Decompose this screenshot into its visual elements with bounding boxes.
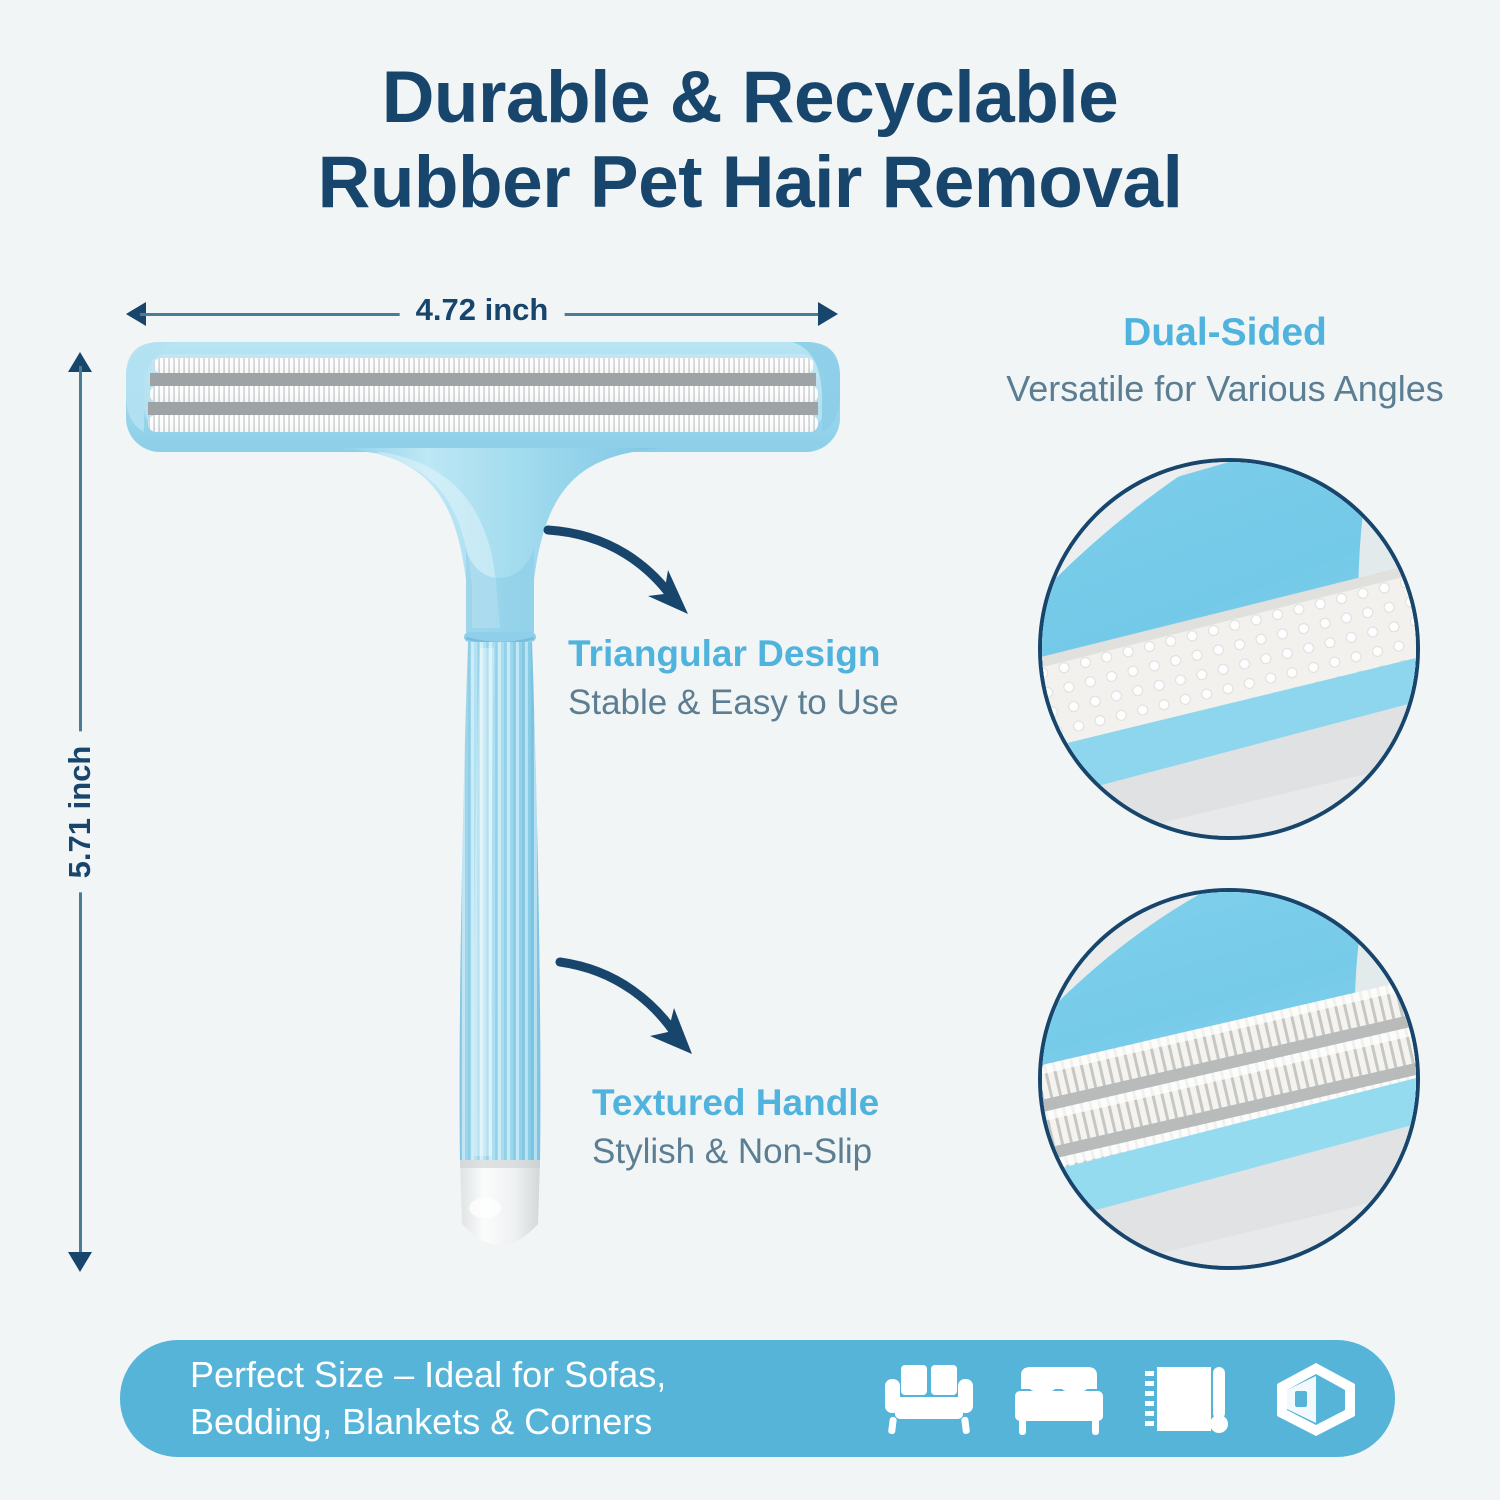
width-dimension-label: 4.72 inch xyxy=(400,292,565,328)
sofa-icon xyxy=(881,1361,977,1437)
dual-sided-title: Dual-Sided xyxy=(950,310,1500,357)
detail-photo-combed-strip xyxy=(1038,888,1420,1270)
banner-text: Perfect Size – Ideal for Sofas, Bedding,… xyxy=(190,1352,666,1444)
detail-photo-dotted-strip xyxy=(1038,458,1420,840)
bottom-banner: Perfect Size – Ideal for Sofas, Bedding,… xyxy=(120,1340,1395,1457)
callout-title: Triangular Design xyxy=(568,632,899,676)
width-dimension-guide: 4.72 inch xyxy=(126,296,838,332)
page-title: Durable & Recyclable Rubber Pet Hair Rem… xyxy=(0,56,1500,225)
title-line-2: Rubber Pet Hair Removal xyxy=(0,141,1500,226)
handle-rib-texture xyxy=(460,642,541,1162)
callout-triangular-design: Triangular Design Stable & Easy to Use xyxy=(568,632,899,724)
callout-title: Textured Handle xyxy=(592,1081,879,1125)
callout-textured-handle: Textured Handle Stylish & Non-Slip xyxy=(592,1081,879,1173)
rubber-comb-strips xyxy=(148,358,818,432)
callout-arrow-textured-handle xyxy=(552,952,742,1077)
banner-icon-group xyxy=(881,1340,1361,1457)
callout-subtitle: Stylish & Non-Slip xyxy=(592,1131,879,1173)
arrow-down-icon xyxy=(68,1252,92,1272)
dual-sided-subtitle: Versatile for Various Angles xyxy=(950,367,1500,410)
bed-icon xyxy=(1011,1361,1107,1437)
height-dimension-label: 5.71 inch xyxy=(62,732,98,893)
dotted-rubber-strip-closeup xyxy=(1042,462,1416,836)
rug-icon xyxy=(1141,1361,1237,1437)
callout-arrow-triangular-design xyxy=(540,518,730,638)
corner-icon xyxy=(1271,1360,1361,1438)
callout-subtitle: Stable & Easy to Use xyxy=(568,682,899,724)
arrow-right-icon xyxy=(818,302,838,326)
title-line-1: Durable & Recyclable xyxy=(0,56,1500,141)
combed-rubber-strip-closeup xyxy=(1042,892,1416,1266)
dual-sided-heading: Dual-Sided Versatile for Various Angles xyxy=(950,310,1500,410)
height-dimension-guide: 5.71 inch xyxy=(62,352,98,1272)
infographic-canvas: Durable & Recyclable Rubber Pet Hair Rem… xyxy=(0,0,1500,1500)
